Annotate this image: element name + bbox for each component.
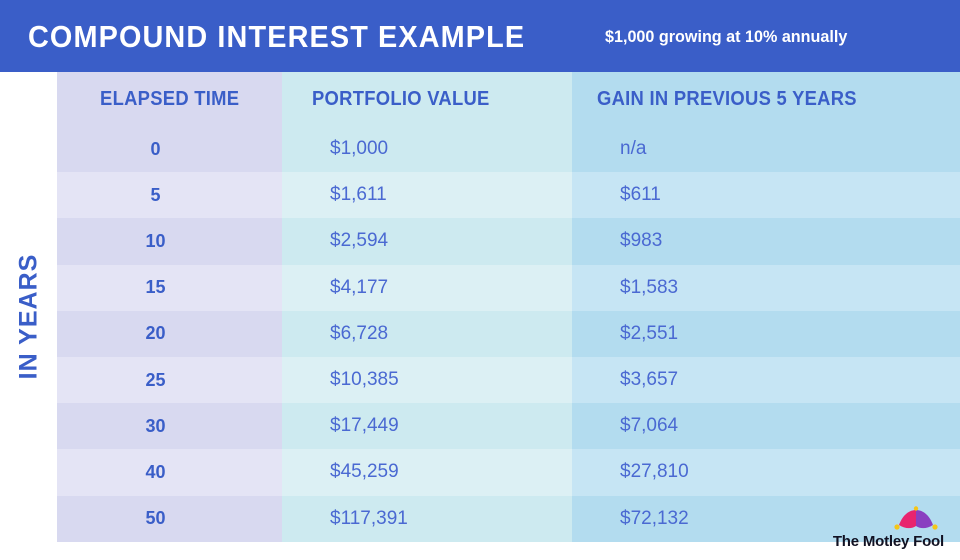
- cell-gain: $2,551: [572, 311, 960, 357]
- data-table: ELAPSED TIME PORTFOLIO VALUE GAIN IN PRE…: [57, 72, 960, 560]
- cell-portfolio-value: $17,449: [282, 403, 572, 449]
- cell-gain: $3,657: [572, 357, 960, 403]
- infographic-root: COMPOUND INTEREST EXAMPLE $1,000 growing…: [0, 0, 960, 560]
- cell-elapsed-time: 20: [57, 311, 282, 357]
- table-row: 0 $1,000 n/a: [57, 126, 960, 172]
- cell-text: $7,064: [620, 415, 678, 437]
- cell-portfolio-value: $1,000: [282, 126, 572, 172]
- cell-portfolio-value: $10,385: [282, 357, 572, 403]
- cell-elapsed-time: 50: [57, 496, 282, 542]
- cell-text: 0: [150, 139, 160, 160]
- cell-elapsed-time: 5: [57, 172, 282, 218]
- cell-text: n/a: [620, 138, 646, 160]
- cell-text: 10: [145, 231, 165, 252]
- cell-gain: n/a: [572, 126, 960, 172]
- table-row: 50 $117,391 $72,132: [57, 496, 960, 542]
- cell-text: 15: [145, 277, 165, 298]
- table-row: 30 $17,449 $7,064: [57, 403, 960, 449]
- cell-portfolio-value: $4,177: [282, 265, 572, 311]
- cell-text: 30: [145, 416, 165, 437]
- cell-gain: $7,064: [572, 403, 960, 449]
- cell-text: $611: [620, 184, 661, 206]
- cell-elapsed-time: 40: [57, 449, 282, 495]
- cell-gain: $27,810: [572, 449, 960, 495]
- cell-portfolio-value: $6,728: [282, 311, 572, 357]
- cell-text: $1,000: [330, 138, 388, 160]
- column-header-gain: GAIN IN PREVIOUS 5 YEARS: [572, 72, 960, 126]
- table-row: 10 $2,594 $983: [57, 218, 960, 264]
- column-header-label: ELAPSED TIME: [100, 88, 239, 111]
- cell-portfolio-value: $45,259: [282, 449, 572, 495]
- cell-elapsed-time: 30: [57, 403, 282, 449]
- table-row: 15 $4,177 $1,583: [57, 265, 960, 311]
- cell-text: $45,259: [330, 461, 399, 483]
- cell-gain: $983: [572, 218, 960, 264]
- table-row: 5 $1,611 $611: [57, 172, 960, 218]
- cell-portfolio-value: $117,391: [282, 496, 572, 542]
- cell-text: 5: [150, 185, 160, 206]
- cell-text: $2,551: [620, 323, 678, 345]
- brand-logo: The Motley Fool: [828, 506, 946, 550]
- cell-text: 20: [145, 323, 165, 344]
- cell-elapsed-time: 10: [57, 218, 282, 264]
- vertical-axis-label-area: IN YEARS: [0, 72, 57, 560]
- cell-portfolio-value: $1,611: [282, 172, 572, 218]
- cell-gain: $1,583: [572, 265, 960, 311]
- cell-text: $3,657: [620, 369, 678, 391]
- cell-text: $72,132: [620, 508, 689, 530]
- column-header-label: PORTFOLIO VALUE: [312, 88, 490, 111]
- cell-gain: $611: [572, 172, 960, 218]
- cell-text: $117,391: [330, 508, 408, 530]
- column-header-label: GAIN IN PREVIOUS 5 YEARS: [597, 88, 857, 111]
- cell-text: $6,728: [330, 323, 388, 345]
- cell-portfolio-value: $2,594: [282, 218, 572, 264]
- cell-elapsed-time: 0: [57, 126, 282, 172]
- column-header-portfolio-value: PORTFOLIO VALUE: [282, 72, 572, 126]
- cell-text: $10,385: [330, 369, 399, 391]
- cell-text: 50: [145, 508, 165, 529]
- cell-text: $17,449: [330, 415, 399, 437]
- page-subtitle: $1,000 growing at 10% annually: [605, 28, 847, 45]
- table-row: 25 $10,385 $3,657: [57, 357, 960, 403]
- cell-text: $4,177: [330, 277, 388, 299]
- column-header-elapsed-time: ELAPSED TIME: [57, 72, 282, 126]
- page-title: COMPOUND INTEREST EXAMPLE: [28, 21, 525, 52]
- header-band: COMPOUND INTEREST EXAMPLE $1,000 growing…: [0, 0, 960, 72]
- table-row: 40 $45,259 $27,810: [57, 449, 960, 495]
- cell-text: $27,810: [620, 461, 689, 483]
- cell-text: $2,594: [330, 230, 388, 252]
- jester-hat-icon: [888, 506, 944, 532]
- vertical-axis-label: IN YEARS: [14, 253, 43, 379]
- cell-text: 25: [145, 370, 165, 391]
- cell-text: 40: [145, 462, 165, 483]
- logo-wordmark: The Motley Fool: [833, 533, 944, 550]
- cell-text: $983: [620, 230, 662, 252]
- cell-elapsed-time: 25: [57, 357, 282, 403]
- cell-text: $1,583: [620, 277, 678, 299]
- table-header-row: ELAPSED TIME PORTFOLIO VALUE GAIN IN PRE…: [57, 72, 960, 126]
- cell-text: $1,611: [330, 184, 387, 206]
- cell-elapsed-time: 15: [57, 265, 282, 311]
- table-row: 20 $6,728 $2,551: [57, 311, 960, 357]
